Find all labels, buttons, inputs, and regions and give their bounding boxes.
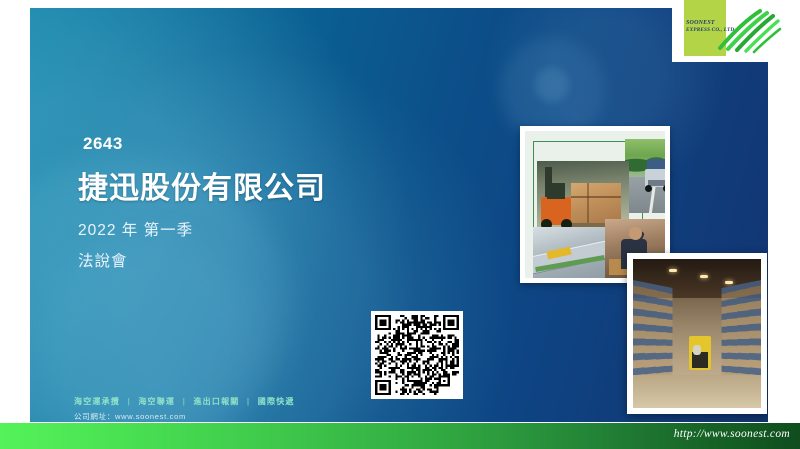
service-item-2: 進出口報關 [193, 397, 239, 406]
headline-block: 2643 捷迅股份有限公司 2022 年 第一季 法說會 [78, 134, 408, 271]
speed-streaks-icon [716, 8, 782, 54]
qr-code[interactable] [371, 311, 463, 399]
service-separator-2: | [247, 397, 250, 406]
meeting-type: 法說會 [78, 249, 408, 271]
warehouse-aisle-photo [627, 253, 767, 414]
service-item-3: 國際快遞 [258, 397, 295, 406]
company-logo: SOONEST EXPRESS CO., LTD. [672, 0, 800, 62]
highway-truck-image [625, 139, 665, 213]
service-separator-0: | [127, 397, 130, 406]
footer-website-url: http://www.soonest.com [674, 428, 790, 440]
page-title: 捷迅股份有限公司 [78, 163, 408, 207]
footer-bar: http://www.soonest.com [0, 423, 800, 449]
service-item-0: 海空運承攬 [74, 397, 120, 406]
stock-code: 2643 [83, 134, 408, 154]
qr-code-image [375, 315, 459, 395]
service-item-1: 海空聯運 [138, 397, 175, 406]
slide-canvas: 2643 捷迅股份有限公司 2022 年 第一季 法說會 海空運承攬 | 海空聯… [0, 0, 800, 449]
services-list: 海空運承攬 | 海空聯運 | 進出口報關 | 國際快遞 [74, 396, 295, 407]
service-separator-1: | [183, 397, 186, 406]
report-period: 2022 年 第一季 [78, 218, 408, 240]
title-slide: 2643 捷迅股份有限公司 2022 年 第一季 法說會 海空運承攬 | 海空聯… [30, 8, 768, 422]
company-website-label: 公司網址：www.soonest.com [74, 411, 186, 422]
decorative-circle-4 [535, 68, 569, 102]
